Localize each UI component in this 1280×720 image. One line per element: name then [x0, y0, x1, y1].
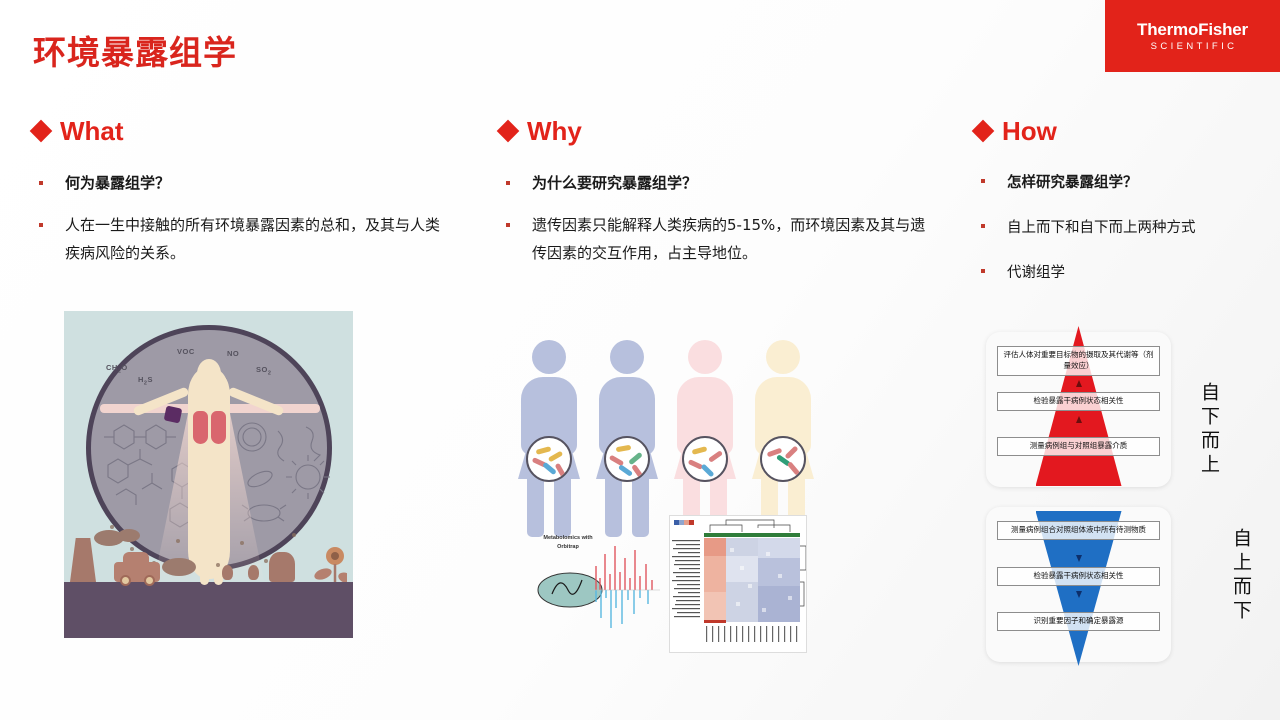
chem-label-voc: VOC: [177, 347, 195, 356]
diamond-icon: [30, 120, 53, 143]
bullet-dot-icon: [39, 223, 43, 227]
arrow-down-icon: [1076, 555, 1082, 562]
column-what-header: What: [33, 118, 453, 144]
bullet-dot-icon: [39, 181, 43, 185]
animal-icon: [269, 552, 295, 582]
chem-label-so2: SO2: [256, 365, 271, 377]
column-how: How 怎样研究暴露组学？ 自上而下和自下而上两种方式 代谢组学: [975, 118, 1275, 304]
figure-leg-left: [200, 507, 209, 585]
why-bullet-list: 为什么要研究暴露组学？ 遗传因素只能解释人类疾病的5-15%，而环境因素及其与遗…: [500, 170, 930, 267]
list-item: 何为暴露组学？: [33, 170, 453, 198]
figure-body: [188, 367, 230, 579]
top-down-label: 自上而下: [1228, 528, 1255, 624]
list-item-label: 代谢组学: [1007, 260, 1065, 287]
figure-lung-right: [211, 411, 226, 444]
arrow-up-icon: [1076, 380, 1082, 387]
bullet-dot-icon: [506, 223, 510, 227]
list-item-label: 为什么要研究暴露组学？: [532, 170, 697, 198]
microbiome-circle: [760, 436, 806, 482]
column-how-title: How: [1002, 118, 1057, 144]
person-silhouette: [674, 340, 736, 537]
list-item-label: 遗传因素只能解释人类疾病的5-15%，而环境因素及其与遗传因素的交互作用，占主导…: [532, 212, 930, 268]
diamond-icon: [972, 120, 995, 143]
list-item: 人在一生中接触的所有环境暴露因素的总和，及其与人类疾病风险的关系。: [33, 212, 453, 268]
factory-icon: [70, 538, 96, 582]
list-item-label: 人在一生中接触的所有环境暴露因素的总和，及其与人类疾病风险的关系。: [65, 212, 453, 268]
list-item-label: 何为暴露组学？: [65, 170, 170, 198]
top-down-step-1: 测量病例组合对照组体液中所有待测物质: [997, 521, 1160, 540]
how-bullet-list: 怎样研究暴露组学？ 自上而下和自下而上两种方式 代谢组学: [975, 170, 1275, 286]
figure-skin-patch: [164, 406, 183, 424]
chem-label-ch2o: CH2O: [106, 363, 128, 375]
what-illustration: CH2O VOC NO H2S CO SO2: [64, 311, 353, 638]
top-down-step-2: 检验暴露干病例状态相关性: [997, 567, 1160, 586]
list-item: 自上而下和自下而上两种方式: [975, 215, 1275, 242]
bottom-up-step-1: 评估人体对重要目标物的摄取及其代谢等（剂量效应）: [997, 346, 1160, 376]
exhaust-plume: [162, 558, 196, 576]
logo-tagline: SCIENTIFIC: [1148, 42, 1238, 52]
particle-speck: [130, 547, 134, 551]
bullet-dot-icon: [981, 224, 985, 228]
particle-speck: [264, 559, 268, 563]
insect-icon: [222, 565, 233, 580]
bottom-up-label: 自下而上: [1196, 382, 1223, 478]
heatmap-plot: [670, 516, 807, 653]
column-why: Why 为什么要研究暴露组学？ 遗传因素只能解释人类疾病的5-15%，而环境因素…: [500, 118, 930, 281]
particle-speck: [110, 525, 114, 529]
person-silhouette: [752, 340, 814, 537]
smoke-plume: [118, 529, 140, 542]
figure-head: [197, 359, 221, 389]
figure-lung-left: [193, 411, 208, 444]
bottom-up-step-3: 测量病例组与对照组暴露介质: [997, 437, 1160, 456]
particle-speck: [292, 533, 296, 537]
list-item: 为什么要研究暴露组学？: [500, 170, 930, 198]
column-what-title: What: [60, 118, 124, 144]
bottom-up-step-2: 检验暴露干病例状态相关性: [997, 392, 1160, 411]
chem-label-h2s: H2S: [138, 375, 153, 387]
particle-speck: [176, 539, 180, 543]
spectrum-label: Metabolomics with Orbitrap: [542, 534, 594, 552]
list-item: 代谢组学: [975, 260, 1275, 287]
slide-root: 环境暴露组学 ThermoFisher SCIENTIFIC What 何为暴露…: [0, 0, 1280, 720]
list-item-label: 自上而下和自下而上两种方式: [1007, 215, 1196, 242]
car-wheel: [144, 575, 155, 586]
arrow-up-icon: [1076, 416, 1082, 423]
column-why-title: Why: [527, 118, 582, 144]
insect-icon: [248, 565, 259, 580]
thermofisher-logo: ThermoFisher SCIENTIFIC: [1105, 0, 1280, 72]
person-silhouette: [596, 340, 658, 537]
microbiome-circle: [682, 436, 728, 482]
microbiome-circle: [526, 436, 572, 482]
list-item-label: 怎样研究暴露组学？: [1007, 170, 1138, 197]
plant-icon: [313, 544, 347, 582]
bottom-up-card: 评估人体对重要目标物的摄取及其代谢等（剂量效应） 检验暴露干病例状态相关性 测量…: [986, 332, 1171, 487]
page-title: 环境暴露组学: [33, 26, 237, 74]
car-wheel: [120, 575, 131, 586]
chem-label-no: NO: [227, 349, 239, 358]
what-bullet-list: 何为暴露组学？ 人在一生中接触的所有环境暴露因素的总和，及其与人类疾病风险的关系…: [33, 170, 453, 267]
logo-wordmark: ThermoFisher: [1137, 21, 1248, 38]
bullet-dot-icon: [506, 181, 510, 185]
bullet-dot-icon: [981, 269, 985, 273]
top-down-card: 测量病例组合对照组体液中所有待测物质 检验暴露干病例状态相关性 识别重要因子和确…: [986, 507, 1171, 662]
column-what: What 何为暴露组学？ 人在一生中接触的所有环境暴露因素的总和，及其与人类疾病…: [33, 118, 453, 281]
microbiome-circle: [604, 436, 650, 482]
particle-speck: [240, 541, 244, 545]
column-how-header: How: [975, 118, 1275, 144]
particle-speck: [216, 563, 220, 567]
arrow-down-icon: [1076, 591, 1082, 598]
metabolomics-spectrum: Metabolomics with Orbitrap: [536, 528, 666, 636]
cluster-heatmap: [669, 515, 807, 653]
bullet-dot-icon: [981, 179, 985, 183]
list-item: 怎样研究暴露组学？: [975, 170, 1275, 197]
top-down-step-3: 识别重要因子和确定暴露源: [997, 612, 1160, 631]
list-item: 遗传因素只能解释人类疾病的5-15%，而环境因素及其与遗传因素的交互作用，占主导…: [500, 212, 930, 268]
person-silhouette: [518, 340, 580, 537]
diamond-icon: [497, 120, 520, 143]
column-why-header: Why: [500, 118, 930, 144]
ground-band: [64, 582, 353, 638]
